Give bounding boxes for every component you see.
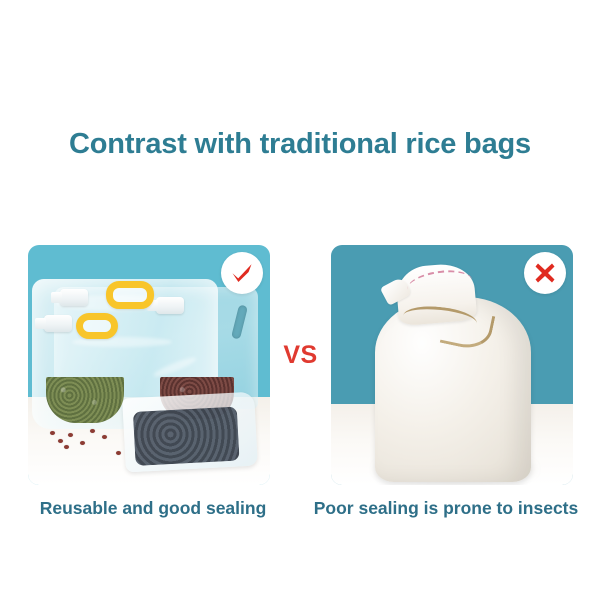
caption-right: Poor sealing is prone to insects bbox=[300, 498, 592, 519]
green-bean-pile bbox=[46, 377, 124, 423]
scattered-bean bbox=[90, 429, 95, 433]
versus-label: VS bbox=[270, 341, 331, 370]
scattered-bean bbox=[58, 439, 63, 443]
scattered-bean bbox=[64, 445, 69, 449]
scattered-bean bbox=[50, 431, 55, 435]
bag-fold bbox=[152, 355, 198, 380]
page-title: Contrast with traditional rice bags bbox=[0, 128, 600, 161]
bag-spout-cap bbox=[44, 315, 72, 332]
comparison-panel-left[interactable] bbox=[28, 245, 270, 485]
bag-spout-cap bbox=[60, 289, 88, 306]
scattered-bean bbox=[102, 435, 107, 439]
bag-spout-cap bbox=[156, 297, 184, 314]
comparison-panel-right[interactable] bbox=[331, 245, 573, 485]
scattered-bean bbox=[68, 433, 73, 437]
scattered-bean bbox=[116, 451, 121, 455]
yellow-carry-handle bbox=[76, 313, 118, 339]
yellow-carry-handle bbox=[106, 281, 154, 309]
caption-left: Reusable and good sealing bbox=[18, 498, 288, 519]
black-bean-fill bbox=[133, 407, 240, 466]
check-icon bbox=[229, 260, 255, 286]
comparison-row: VS bbox=[0, 245, 600, 485]
scattered-bean bbox=[80, 441, 85, 445]
cross-icon bbox=[533, 261, 557, 285]
status-badge-check bbox=[221, 252, 263, 294]
bag-hang-slot-icon bbox=[231, 304, 248, 339]
front-storage-pouch bbox=[122, 392, 258, 473]
status-badge-cross bbox=[524, 252, 566, 294]
